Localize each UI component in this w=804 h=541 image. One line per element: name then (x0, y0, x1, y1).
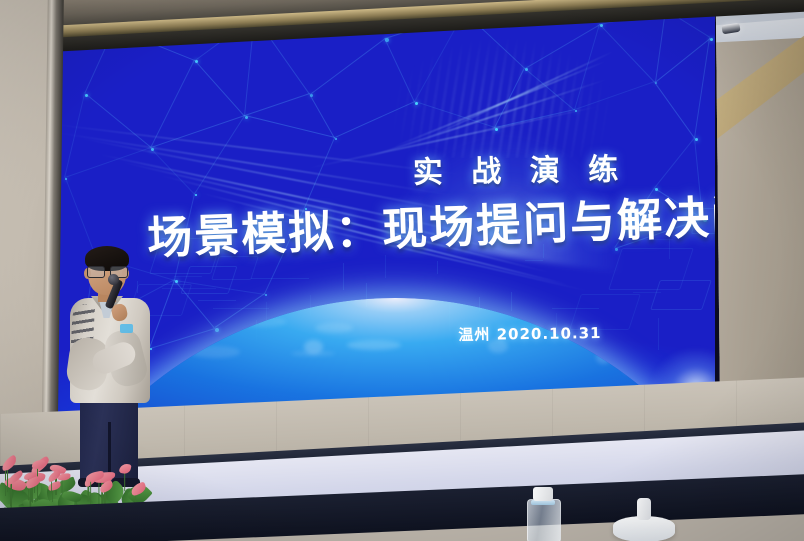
presenter (58, 246, 168, 476)
earth-cloud (315, 323, 352, 333)
circuit-trace-line (385, 255, 386, 278)
network-node (265, 294, 267, 296)
circuit-trace-line (511, 292, 512, 312)
water-bottle (527, 487, 559, 541)
covered-cup (613, 498, 675, 541)
circuit-trace-line (525, 260, 543, 261)
network-node (575, 110, 577, 112)
microphone-head-icon (108, 274, 119, 285)
presenter-badge (120, 324, 133, 333)
circuit-trace-line (437, 261, 438, 274)
earth-cloud (190, 346, 240, 358)
circuit-trace-line (162, 288, 217, 289)
network-link (194, 60, 245, 117)
earth-cloud (304, 340, 323, 354)
network-link (245, 93, 310, 116)
network-node (335, 138, 337, 140)
earth-cloud (170, 325, 222, 333)
plant-stem (90, 478, 91, 505)
network-node (195, 194, 197, 196)
circuit-trace-line (174, 276, 203, 277)
circuit-trace-line (633, 292, 661, 293)
water-bottle-body (527, 499, 561, 541)
earth-cloud (596, 351, 611, 364)
earth-cloud (674, 317, 715, 326)
earth-cloud (240, 317, 285, 327)
network-node (695, 138, 698, 141)
water-bottle-cap (533, 487, 553, 501)
slide-footer-line: 温州 2020.10.31 (385, 321, 675, 346)
circuit-trace-line (343, 263, 344, 290)
circuit-trace-line (251, 278, 309, 279)
network-link (65, 178, 96, 256)
network-node (495, 128, 498, 131)
presenter-glasses-icon (87, 266, 128, 276)
conference-photo-scene: 瑞浦能源 REPT 实 战 演 练 场景模拟：现场提问与解决问题 温州 2020… (0, 0, 804, 541)
circuit-trace (650, 280, 712, 310)
circuit-trace-line (198, 300, 236, 301)
covered-cup-knob (637, 498, 651, 520)
circuit-trace-line (213, 308, 268, 309)
circuit-trace-line (552, 308, 599, 309)
network-link (245, 115, 335, 138)
